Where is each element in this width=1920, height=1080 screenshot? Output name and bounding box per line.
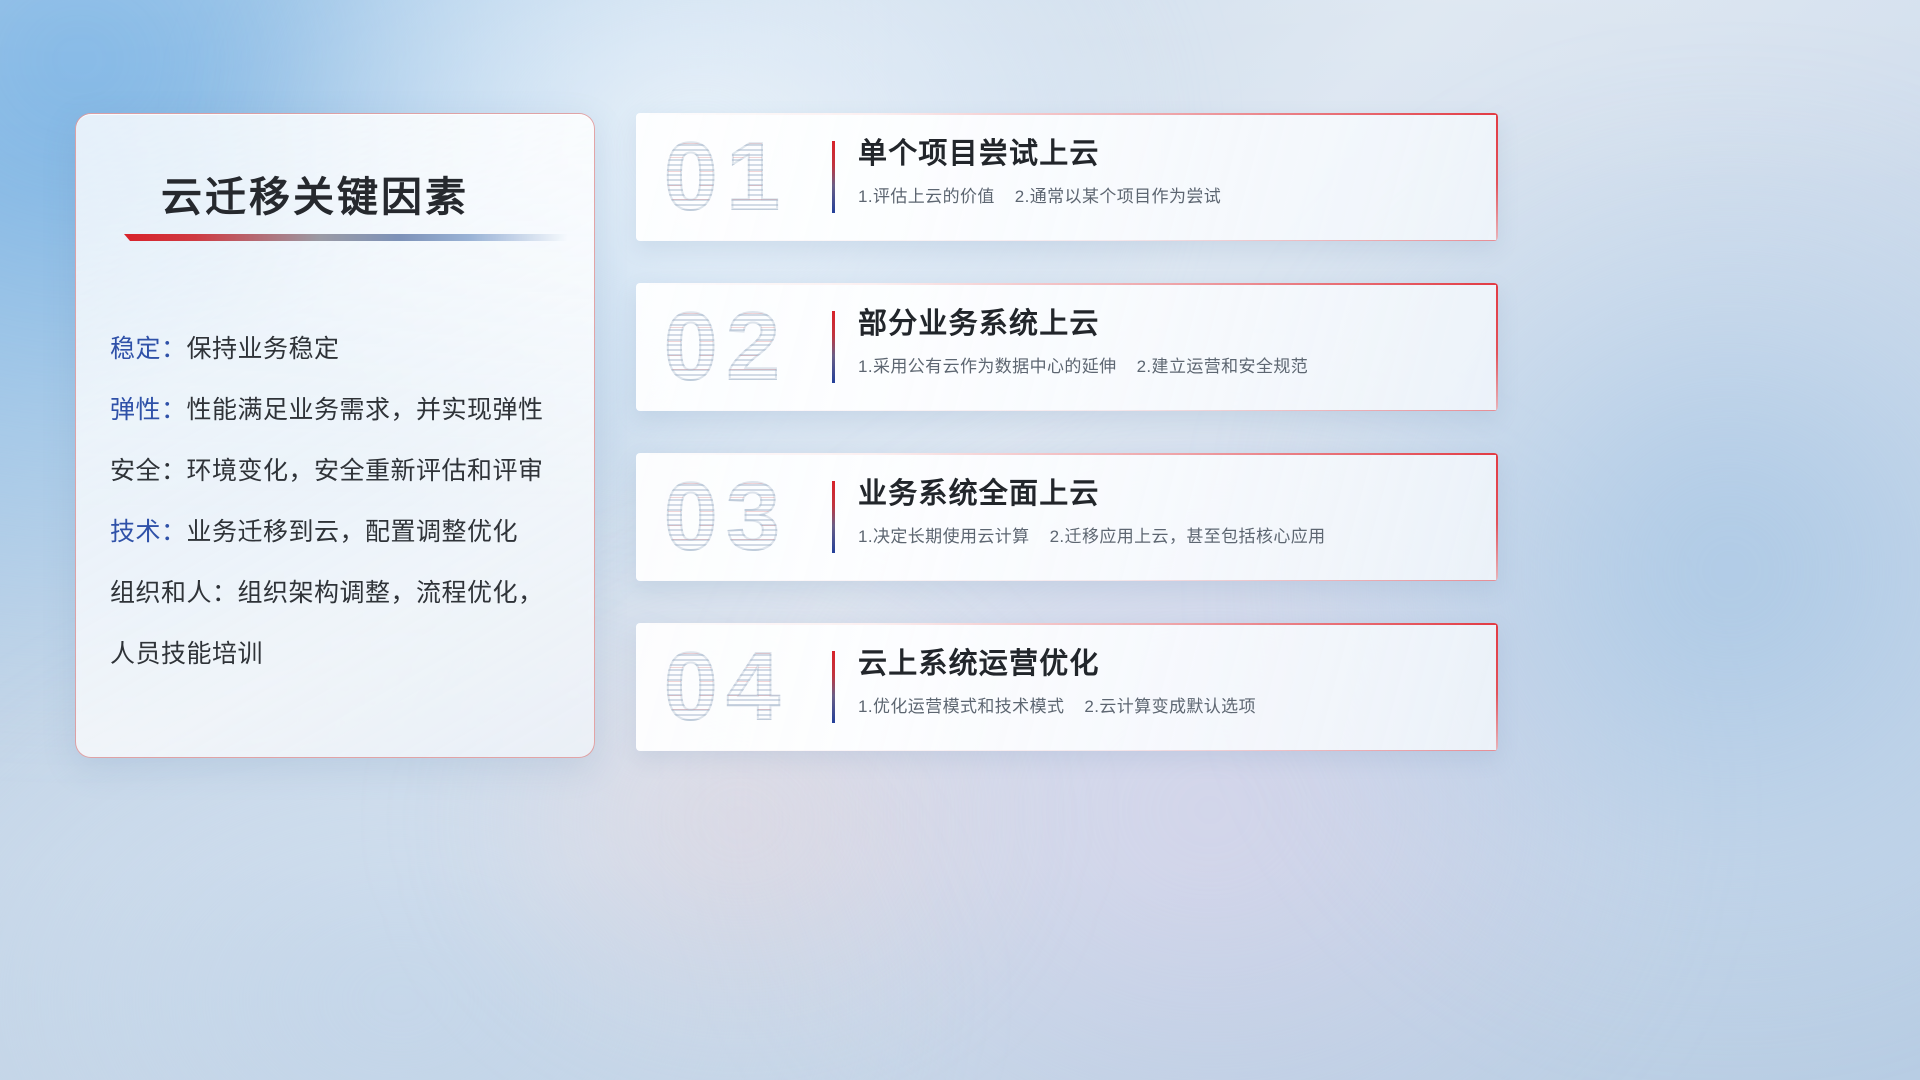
card-right-accent xyxy=(1496,623,1498,751)
factor-value: 环境变化，安全重新评估和评审 xyxy=(187,457,544,485)
stage-number-ghost: 04 xyxy=(664,639,789,735)
card-title: 业务系统全面上云 xyxy=(858,477,1468,512)
card-description-part-1: 1.评估上云的价值 xyxy=(858,187,995,206)
stage-card[interactable]: 03 03 业务系统全面上云 1.决定长期使用云计算2.迁移应用上云，甚至包括核… xyxy=(636,453,1498,581)
factor-value: 人员技能培训 xyxy=(110,640,263,668)
card-bottom-accent xyxy=(636,240,1498,241)
card-title: 单个项目尝试上云 xyxy=(858,137,1468,172)
card-text-block: 部分业务系统上云 1.采用公有云作为数据中心的延伸2.建立运营和安全规范 xyxy=(858,307,1468,378)
factor-item: 弹性：性能满足业务需求，并实现弹性 xyxy=(110,380,570,441)
card-description: 1.采用公有云作为数据中心的延伸2.建立运营和安全规范 xyxy=(858,356,1468,378)
title-underline-rule xyxy=(124,234,568,241)
card-description-part-2: 2.迁移应用上云，甚至包括核心应用 xyxy=(1050,527,1326,546)
card-description: 1.优化运营模式和技术模式2.云计算变成默认选项 xyxy=(858,696,1468,718)
factor-label: 技术： xyxy=(110,518,187,546)
slide-stage: 云迁移关键因素 稳定：保持业务稳定 弹性：性能满足业务需求，并实现弹性 安全：环… xyxy=(0,0,1920,1080)
card-bottom-accent xyxy=(636,750,1498,751)
card-text-block: 单个项目尝试上云 1.评估上云的价值2.通常以某个项目作为尝试 xyxy=(858,137,1468,208)
card-description-part-1: 1.决定长期使用云计算 xyxy=(858,527,1030,546)
card-divider-bar xyxy=(832,481,835,553)
stage-card[interactable]: 02 02 部分业务系统上云 1.采用公有云作为数据中心的延伸2.建立运营和安全… xyxy=(636,283,1498,411)
key-factors-panel: 云迁移关键因素 稳定：保持业务稳定 弹性：性能满足业务需求，并实现弹性 安全：环… xyxy=(75,113,595,758)
card-top-accent xyxy=(636,283,1498,285)
card-description-part-2: 2.建立运营和安全规范 xyxy=(1137,357,1309,376)
card-divider-bar xyxy=(832,651,835,723)
card-bottom-accent xyxy=(636,580,1498,581)
card-title: 云上系统运营优化 xyxy=(858,647,1468,682)
card-description: 1.决定长期使用云计算2.迁移应用上云，甚至包括核心应用 xyxy=(858,526,1468,548)
card-right-accent xyxy=(1496,453,1498,581)
card-text-block: 业务系统全面上云 1.决定长期使用云计算2.迁移应用上云，甚至包括核心应用 xyxy=(858,477,1468,548)
factor-value: 组织架构调整，流程优化， xyxy=(238,579,544,607)
card-divider-bar xyxy=(832,311,835,383)
stage-number-ghost: 01 xyxy=(664,129,789,225)
stage-number-ghost: 03 xyxy=(664,469,789,565)
stage-card[interactable]: 04 04 云上系统运营优化 1.优化运营模式和技术模式2.云计算变成默认选项 xyxy=(636,623,1498,751)
card-description-part-2: 2.通常以某个项目作为尝试 xyxy=(1015,187,1221,206)
factor-list: 稳定：保持业务稳定 弹性：性能满足业务需求，并实现弹性 安全：环境变化，安全重新… xyxy=(110,319,570,685)
card-description: 1.评估上云的价值2.通常以某个项目作为尝试 xyxy=(858,186,1468,208)
stage-card[interactable]: 01 01 单个项目尝试上云 1.评估上云的价值2.通常以某个项目作为尝试 xyxy=(636,113,1498,241)
card-bottom-accent xyxy=(636,410,1498,411)
factor-item: 技术：业务迁移到云，配置调整优化 xyxy=(110,502,570,563)
factor-label: 弹性： xyxy=(110,396,187,424)
page-title: 云迁移关键因素 xyxy=(161,163,469,223)
card-title: 部分业务系统上云 xyxy=(858,307,1468,342)
stage-number-tint: 02 xyxy=(664,299,789,395)
card-top-accent xyxy=(636,623,1498,625)
migration-stage-card-list: 01 01 单个项目尝试上云 1.评估上云的价值2.通常以某个项目作为尝试 02… xyxy=(636,113,1498,793)
factor-label: 安全： xyxy=(110,457,187,485)
factor-item: 组织和人：组织架构调整，流程优化， xyxy=(110,563,570,624)
card-text-block: 云上系统运营优化 1.优化运营模式和技术模式2.云计算变成默认选项 xyxy=(858,647,1468,718)
factor-label: 组织和人： xyxy=(110,579,238,607)
card-divider-bar xyxy=(832,141,835,213)
card-right-accent xyxy=(1496,113,1498,241)
card-top-accent xyxy=(636,113,1498,115)
factor-label: 稳定： xyxy=(110,335,187,363)
factor-value: 业务迁移到云，配置调整优化 xyxy=(187,518,519,546)
factor-item: 安全：环境变化，安全重新评估和评审 xyxy=(110,441,570,502)
stage-number-ghost: 02 xyxy=(664,299,789,395)
factor-value: 保持业务稳定 xyxy=(187,335,340,363)
factor-value: 性能满足业务需求，并实现弹性 xyxy=(187,396,544,424)
card-top-accent xyxy=(636,453,1498,455)
card-description-part-1: 1.采用公有云作为数据中心的延伸 xyxy=(858,357,1117,376)
card-right-accent xyxy=(1496,283,1498,411)
factor-item: 稳定：保持业务稳定 xyxy=(110,319,570,380)
stage-number-tint: 01 xyxy=(664,129,789,225)
stage-number-tint: 04 xyxy=(664,639,789,735)
card-description-part-2: 2.云计算变成默认选项 xyxy=(1084,697,1256,716)
card-description-part-1: 1.优化运营模式和技术模式 xyxy=(858,697,1064,716)
factor-item-continuation: 人员技能培训 xyxy=(110,624,570,685)
stage-number-tint: 03 xyxy=(664,469,789,565)
